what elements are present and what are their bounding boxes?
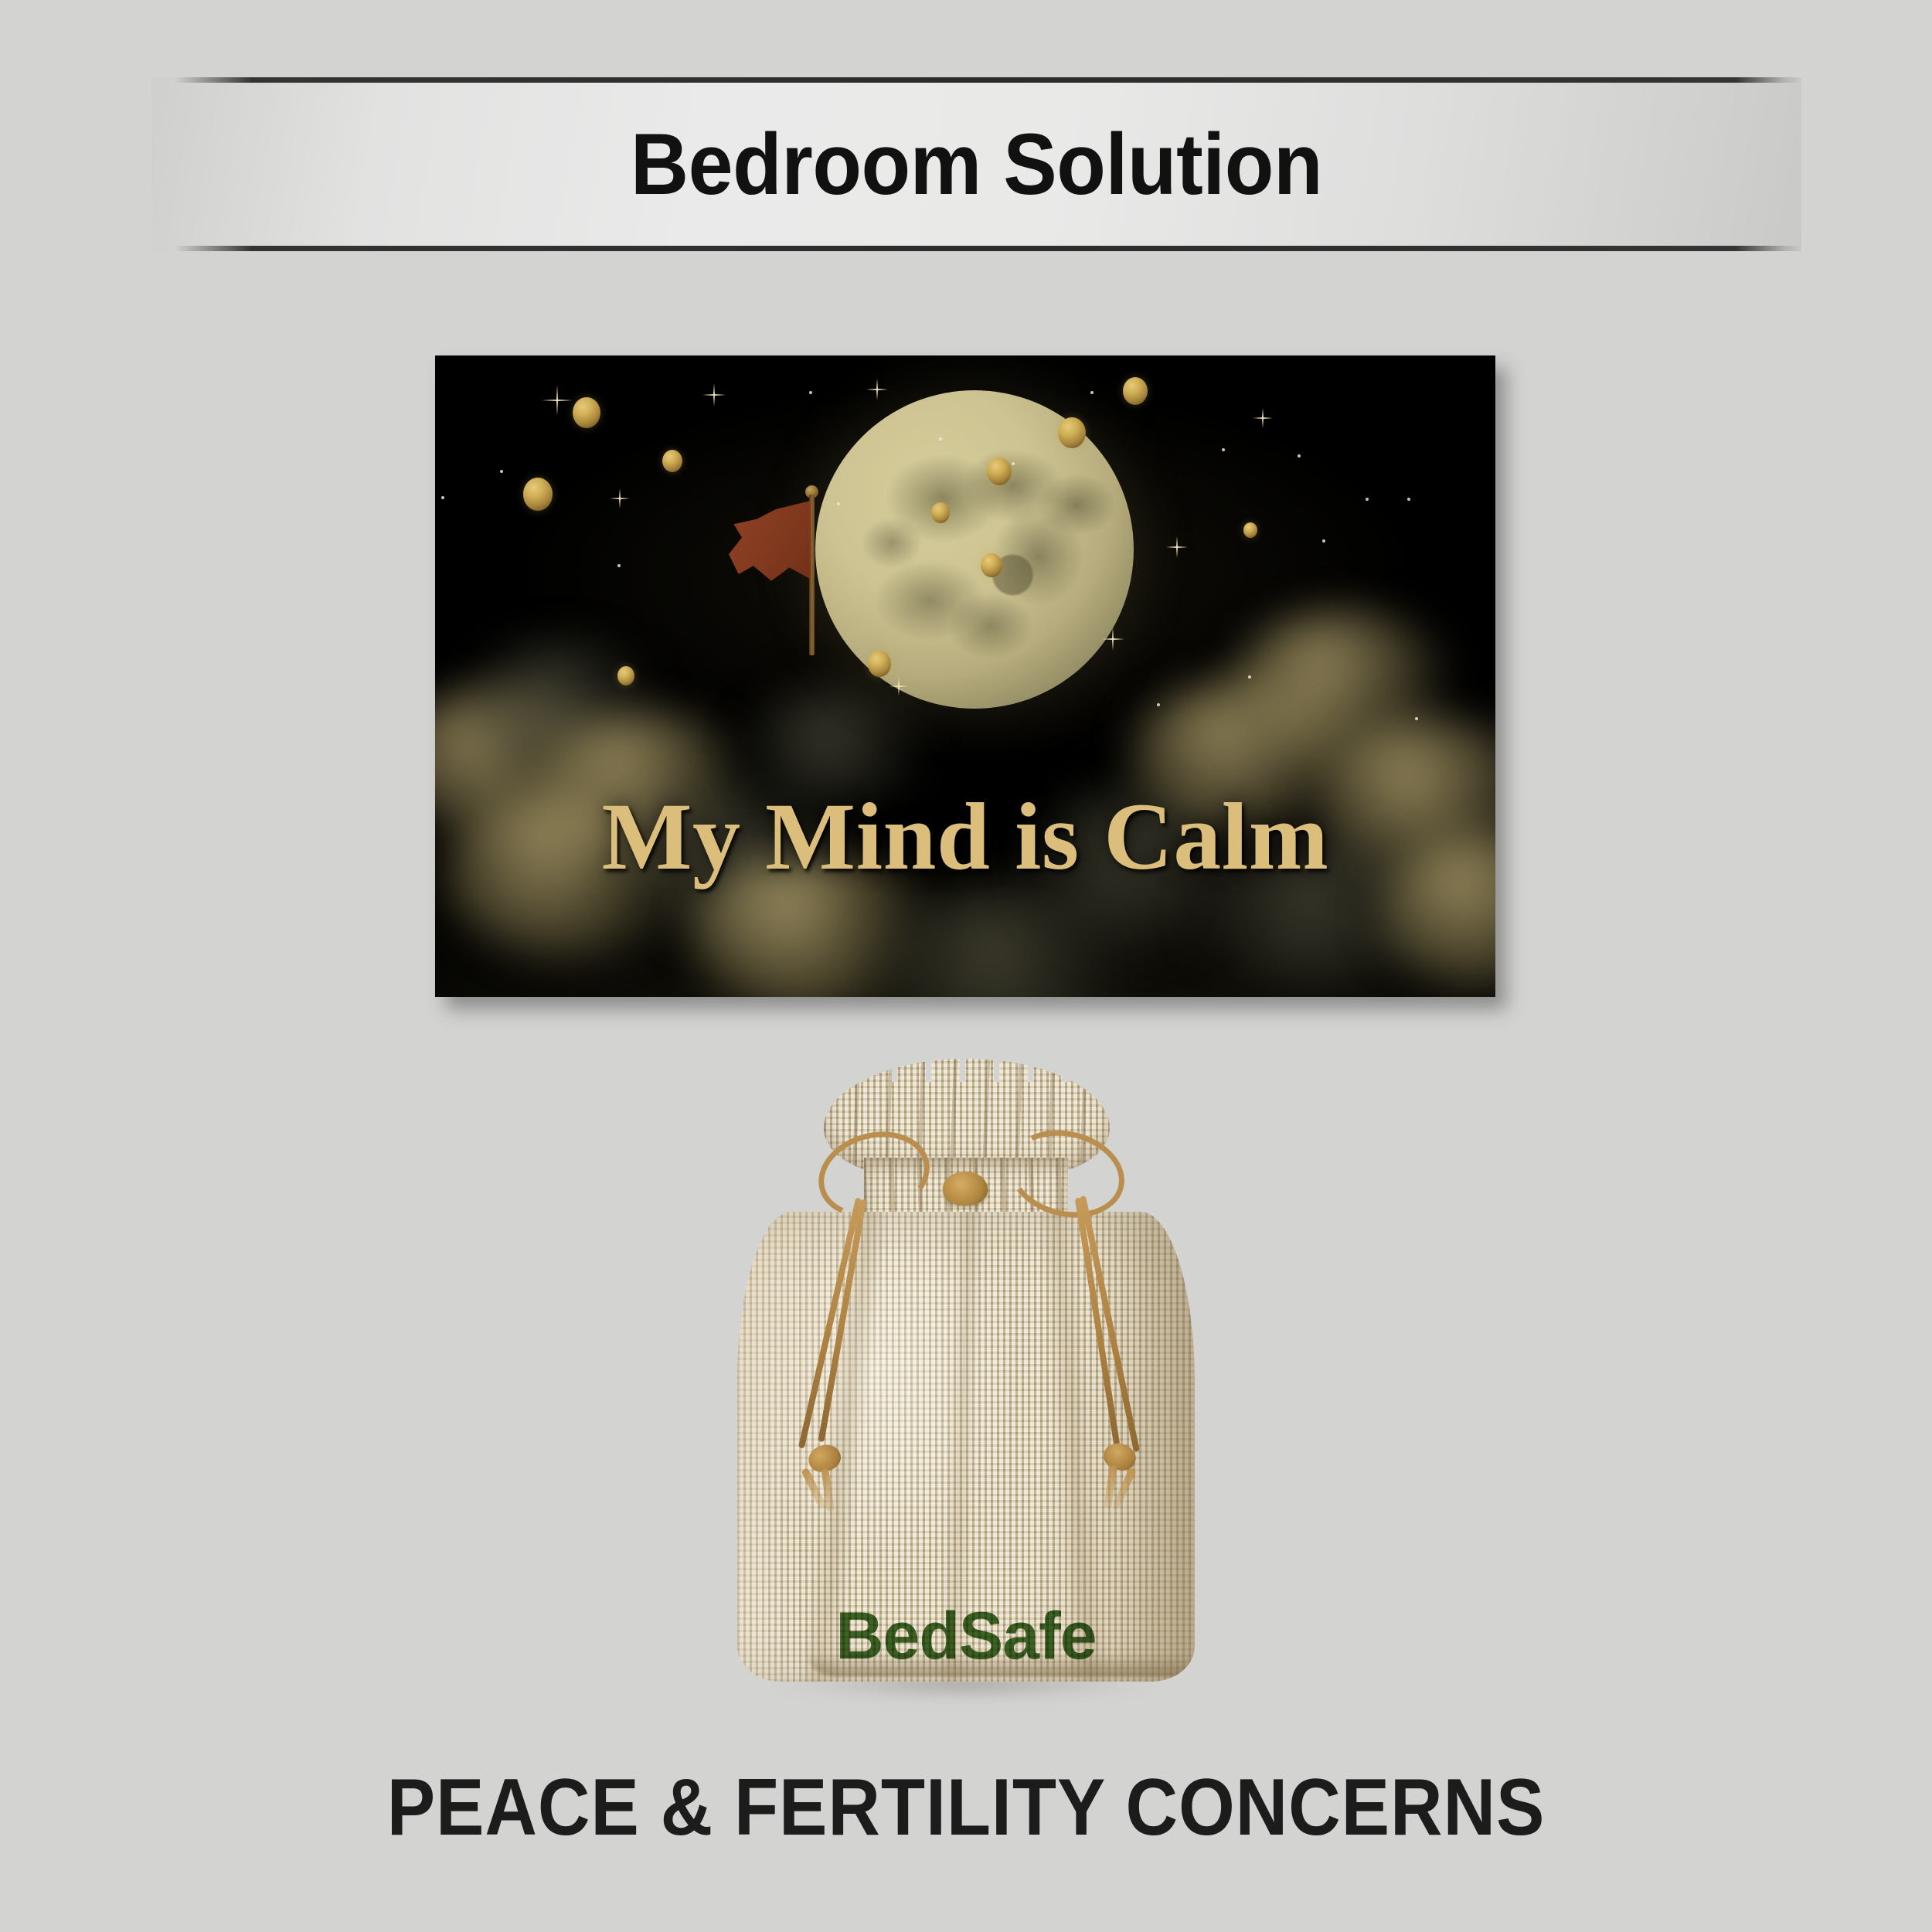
sparkle-star-icon	[610, 488, 630, 509]
dot-star-icon	[1407, 498, 1410, 501]
gold-orb-icon	[523, 478, 553, 511]
sparkle-star-icon	[866, 379, 888, 400]
sparkle-star-icon	[1253, 408, 1273, 428]
sparkle-star-icon	[1101, 628, 1124, 651]
dot-star-icon	[441, 496, 444, 499]
dot-star-icon	[1415, 717, 1418, 720]
dot-star-icon	[837, 502, 840, 505]
affirmation-text: My Mind is Calm	[435, 782, 1495, 892]
dot-star-icon	[500, 470, 503, 473]
dot-star-icon	[1012, 462, 1015, 465]
drawstring-knot	[943, 1172, 988, 1206]
sparkle-star-icon	[889, 677, 908, 696]
ruffle-notches	[824, 1059, 1110, 1082]
gold-orb-icon	[987, 457, 1012, 485]
dot-star-icon	[617, 564, 621, 567]
gold-orb-icon	[868, 651, 891, 677]
gold-orb-icon	[662, 450, 682, 472]
pennant-flag-icon	[731, 485, 832, 655]
header-banner: Bedroom Solution	[151, 77, 1801, 251]
sparkle-star-icon	[1166, 536, 1188, 558]
gold-orb-icon	[1123, 377, 1148, 405]
dot-star-icon	[1157, 703, 1160, 706]
affirmation-image-card: My Mind is Calm	[435, 355, 1495, 997]
gold-orb-icon	[573, 397, 600, 428]
gold-orb-icon	[1243, 522, 1257, 538]
gold-orb-icon	[617, 666, 634, 685]
gold-orb-icon	[931, 502, 950, 523]
dot-star-icon	[1222, 448, 1225, 451]
sparkle-star-icon	[542, 385, 573, 416]
dot-star-icon	[1366, 498, 1369, 501]
dot-star-icon	[1298, 454, 1301, 457]
gold-orb-icon	[1058, 417, 1086, 448]
page-title: Bedroom Solution	[209, 77, 1744, 251]
dot-star-icon	[809, 391, 812, 394]
dot-star-icon	[939, 437, 942, 440]
footer-caption: PEACE & FERTILITY CONCERNS	[97, 1762, 1835, 1854]
brand-logo-text: BedSafe	[737, 1598, 1195, 1675]
sparkle-star-icon	[702, 383, 726, 406]
flag-cloth	[729, 501, 811, 584]
dot-star-icon	[1248, 675, 1251, 679]
product-bag: BedSafe	[680, 1059, 1252, 1700]
header-bottom-rule	[151, 246, 1801, 251]
full-moon-icon	[815, 390, 1134, 709]
dot-star-icon	[1322, 539, 1325, 543]
dot-star-icon	[1090, 391, 1094, 394]
